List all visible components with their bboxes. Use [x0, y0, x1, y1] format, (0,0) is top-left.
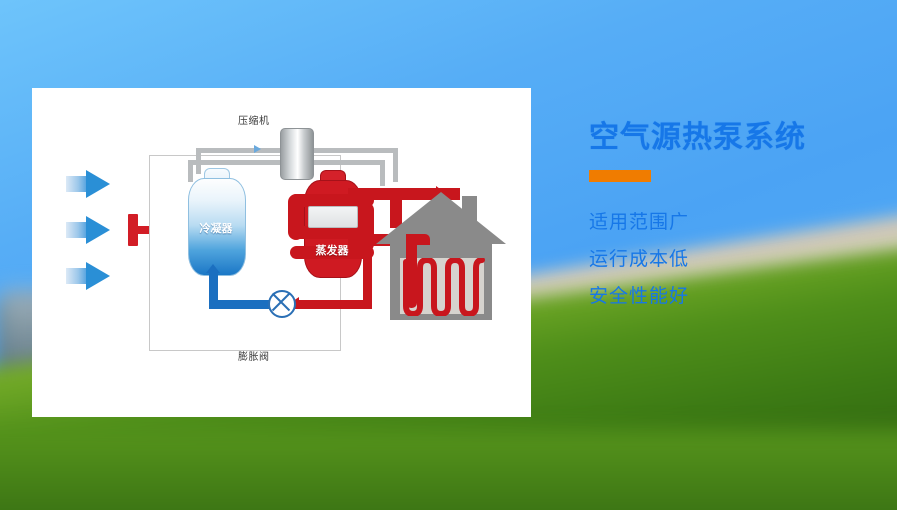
- flow-direction-icon: [254, 145, 261, 153]
- gas-line-segment: [188, 160, 193, 182]
- gas-line-segment: [380, 160, 385, 186]
- arrow-head: [86, 262, 110, 290]
- airflow-arrow-icon: [66, 216, 110, 244]
- arrow-head: [86, 170, 110, 198]
- background-grass-foreground: [0, 430, 897, 510]
- expansion-valve-label: 膨胀阀: [238, 348, 270, 363]
- expansion-valve-icon: [268, 290, 296, 318]
- gas-line-segment: [312, 148, 398, 153]
- evaporator-window: [308, 206, 358, 228]
- feature-item: 安全性能好: [589, 278, 889, 315]
- gas-line-segment: [393, 148, 398, 182]
- airflow-arrow-icon: [66, 170, 110, 198]
- underfloor-heating-coil-icon: [400, 258, 488, 316]
- arrow-head: [86, 216, 110, 244]
- house-illustration: [376, 192, 506, 372]
- gas-line-segment: [188, 160, 288, 165]
- feature-item: 运行成本低: [589, 241, 889, 278]
- arrow-tail: [66, 176, 88, 192]
- floor-loop-elbow: [406, 234, 430, 245]
- airflow-group: [32, 88, 157, 417]
- gas-line-segment: [196, 148, 282, 153]
- arrow-tail: [66, 268, 88, 284]
- compressor-label: 压缩机: [238, 112, 270, 127]
- compressor-unit: [280, 128, 314, 180]
- feature-list: 适用范围广 运行成本低 安全性能好: [589, 204, 889, 315]
- title-underline-bar: [589, 170, 651, 182]
- feature-item: 适用范围广: [589, 204, 889, 241]
- gas-line-segment: [308, 160, 384, 165]
- slide-canvas: 压缩机 膨胀阀 冷凝器: [0, 0, 897, 510]
- text-panel: 空气源热泵系统 适用范围广 运行成本低 安全性能好: [589, 118, 889, 328]
- airflow-arrow-icon: [66, 262, 110, 290]
- arrow-tail: [66, 222, 88, 238]
- diagram-card: 压缩机 膨胀阀 冷凝器: [32, 88, 531, 417]
- page-title: 空气源热泵系统: [589, 118, 889, 158]
- condenser-inline-label: 冷凝器: [188, 220, 244, 236]
- hot-line-segment: [290, 300, 372, 309]
- roof-icon: [376, 192, 506, 244]
